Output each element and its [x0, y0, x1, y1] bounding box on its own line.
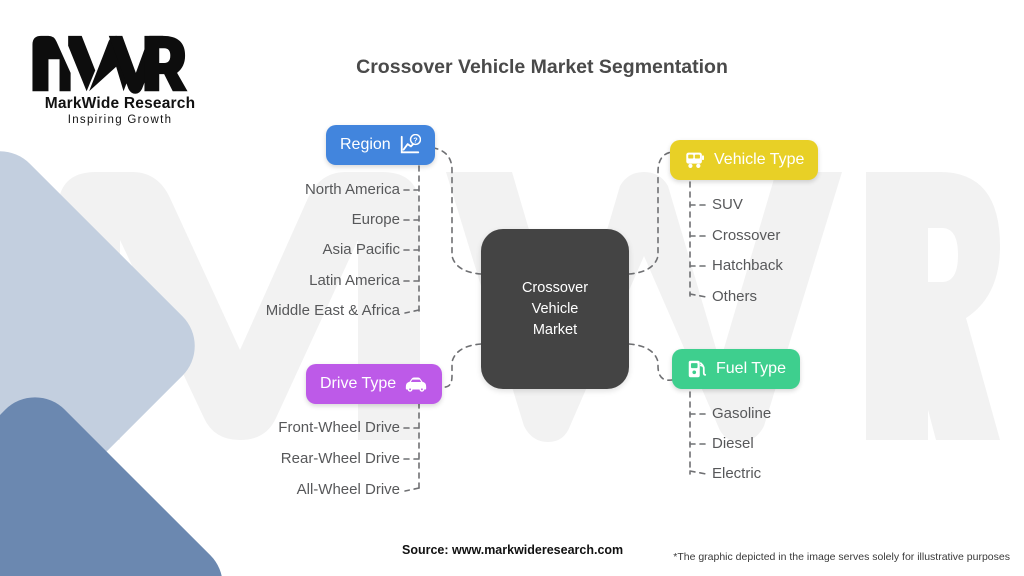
- leaf-vehicle-type-1: Crossover: [712, 227, 780, 244]
- analytics-question-icon: ?: [399, 134, 421, 156]
- page-title-text: Crossover Vehicle Market Segmentation: [296, 56, 728, 79]
- branch-label-fuel-type: Fuel Type: [716, 360, 786, 378]
- leaf-region-4: Middle East & Africa: [266, 302, 400, 319]
- leaf-vehicle-type-0: SUV: [712, 196, 743, 213]
- van-icon: [684, 149, 706, 171]
- leaf-fuel-type-0: Gasoline: [712, 405, 771, 422]
- logo-tagline: Inspiring Growth: [30, 114, 210, 126]
- leaf-vehicle-type-2: Hatchback: [712, 257, 783, 274]
- disclaimer-note: *The graphic depicted in the image serve…: [673, 551, 1010, 563]
- car-icon: [404, 374, 428, 394]
- source-attribution: Source: www.markwideresearch.com: [402, 543, 623, 557]
- branch-label-region: Region: [340, 136, 391, 154]
- branch-pill-vehicle-type[interactable]: Vehicle Type: [670, 140, 818, 180]
- branch-pill-fuel-type[interactable]: Fuel Type: [672, 349, 800, 389]
- branch-label-drive-type: Drive Type: [320, 375, 396, 393]
- page-title: Crossover Vehicle Market Segmentation: [0, 56, 1024, 79]
- leaf-drive-type-1: Rear-Wheel Drive: [281, 450, 400, 467]
- leaf-region-2: Asia Pacific: [322, 241, 400, 258]
- leaf-region-3: Latin America: [309, 272, 400, 289]
- leaf-region-1: Europe: [352, 211, 400, 228]
- leaf-fuel-type-1: Diesel: [712, 435, 754, 452]
- center-node: Crossover Vehicle Market: [481, 229, 629, 389]
- center-node-label: Crossover Vehicle Market: [522, 278, 588, 341]
- fuel-pump-icon: [686, 358, 708, 380]
- leaf-fuel-type-2: Electric: [712, 465, 761, 482]
- svg-text:?: ?: [413, 135, 418, 144]
- branch-label-vehicle-type: Vehicle Type: [714, 151, 804, 169]
- branch-pill-region[interactable]: Region ?: [326, 125, 435, 165]
- leaf-region-0: North America: [305, 181, 400, 198]
- branch-pill-drive-type[interactable]: Drive Type: [306, 364, 442, 404]
- infographic-canvas: MarkWide Research Inspiring Growth Cross…: [0, 0, 1024, 576]
- leaf-vehicle-type-3: Others: [712, 288, 757, 305]
- leaf-drive-type-0: Front-Wheel Drive: [278, 419, 400, 436]
- leaf-drive-type-2: All-Wheel Drive: [297, 481, 400, 498]
- logo-company-name: MarkWide Research: [30, 95, 210, 113]
- brand-logo: MarkWide Research Inspiring Growth: [30, 32, 210, 126]
